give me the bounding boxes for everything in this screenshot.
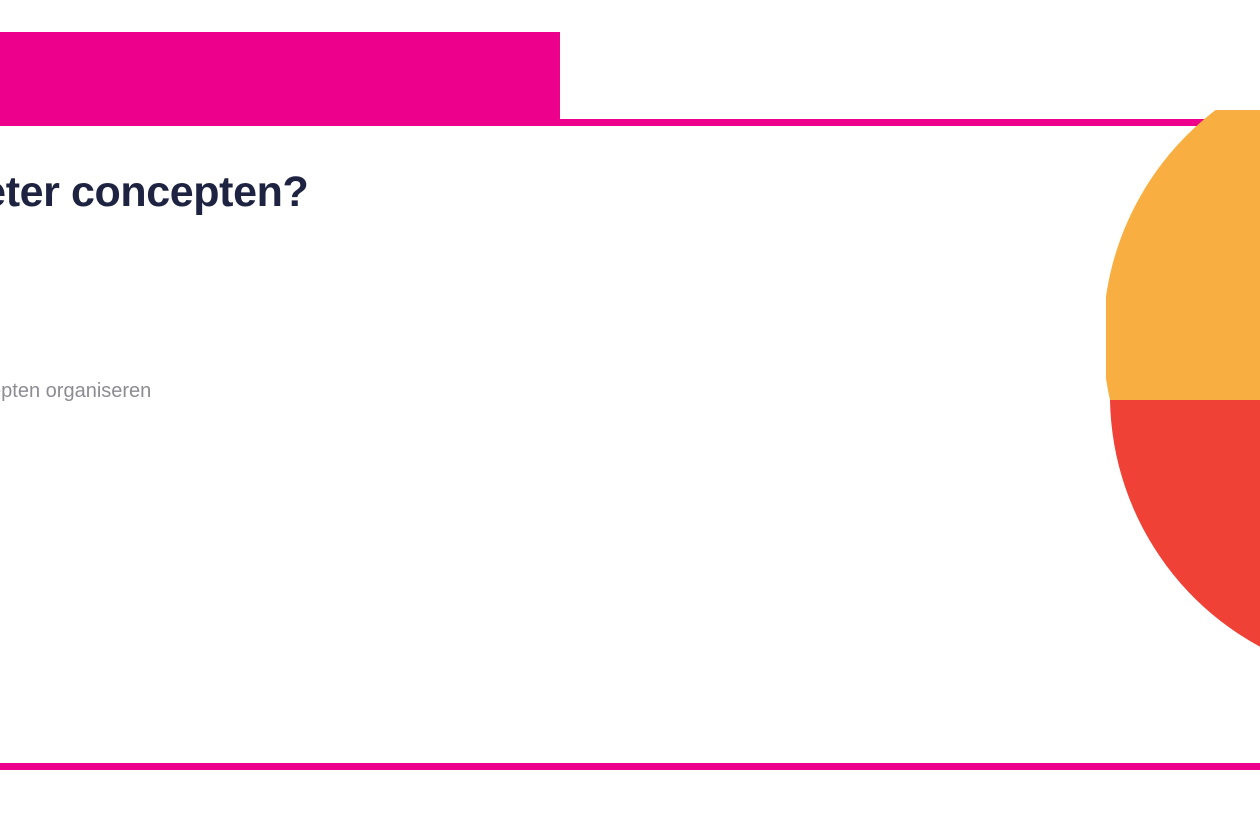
page-subtitle: et 1,5 m concepten organiseren — [0, 380, 770, 403]
pie-chart-svg: 15,94 33,3 — [1106, 110, 1260, 690]
pie-slice-red[interactable] — [1110, 400, 1260, 681]
footer-rule — [0, 763, 1260, 770]
header-rule — [0, 119, 1260, 126]
pie-chart: 15,94 33,3 — [1106, 110, 1260, 690]
slide-canvas: g met 1,5 meter concepten? et 1,5 m conc… — [0, 0, 1260, 840]
pie-slice-orange[interactable] — [1106, 110, 1260, 400]
page-title: g met 1,5 meter concepten? — [0, 168, 750, 217]
header-accent-block — [0, 32, 560, 120]
